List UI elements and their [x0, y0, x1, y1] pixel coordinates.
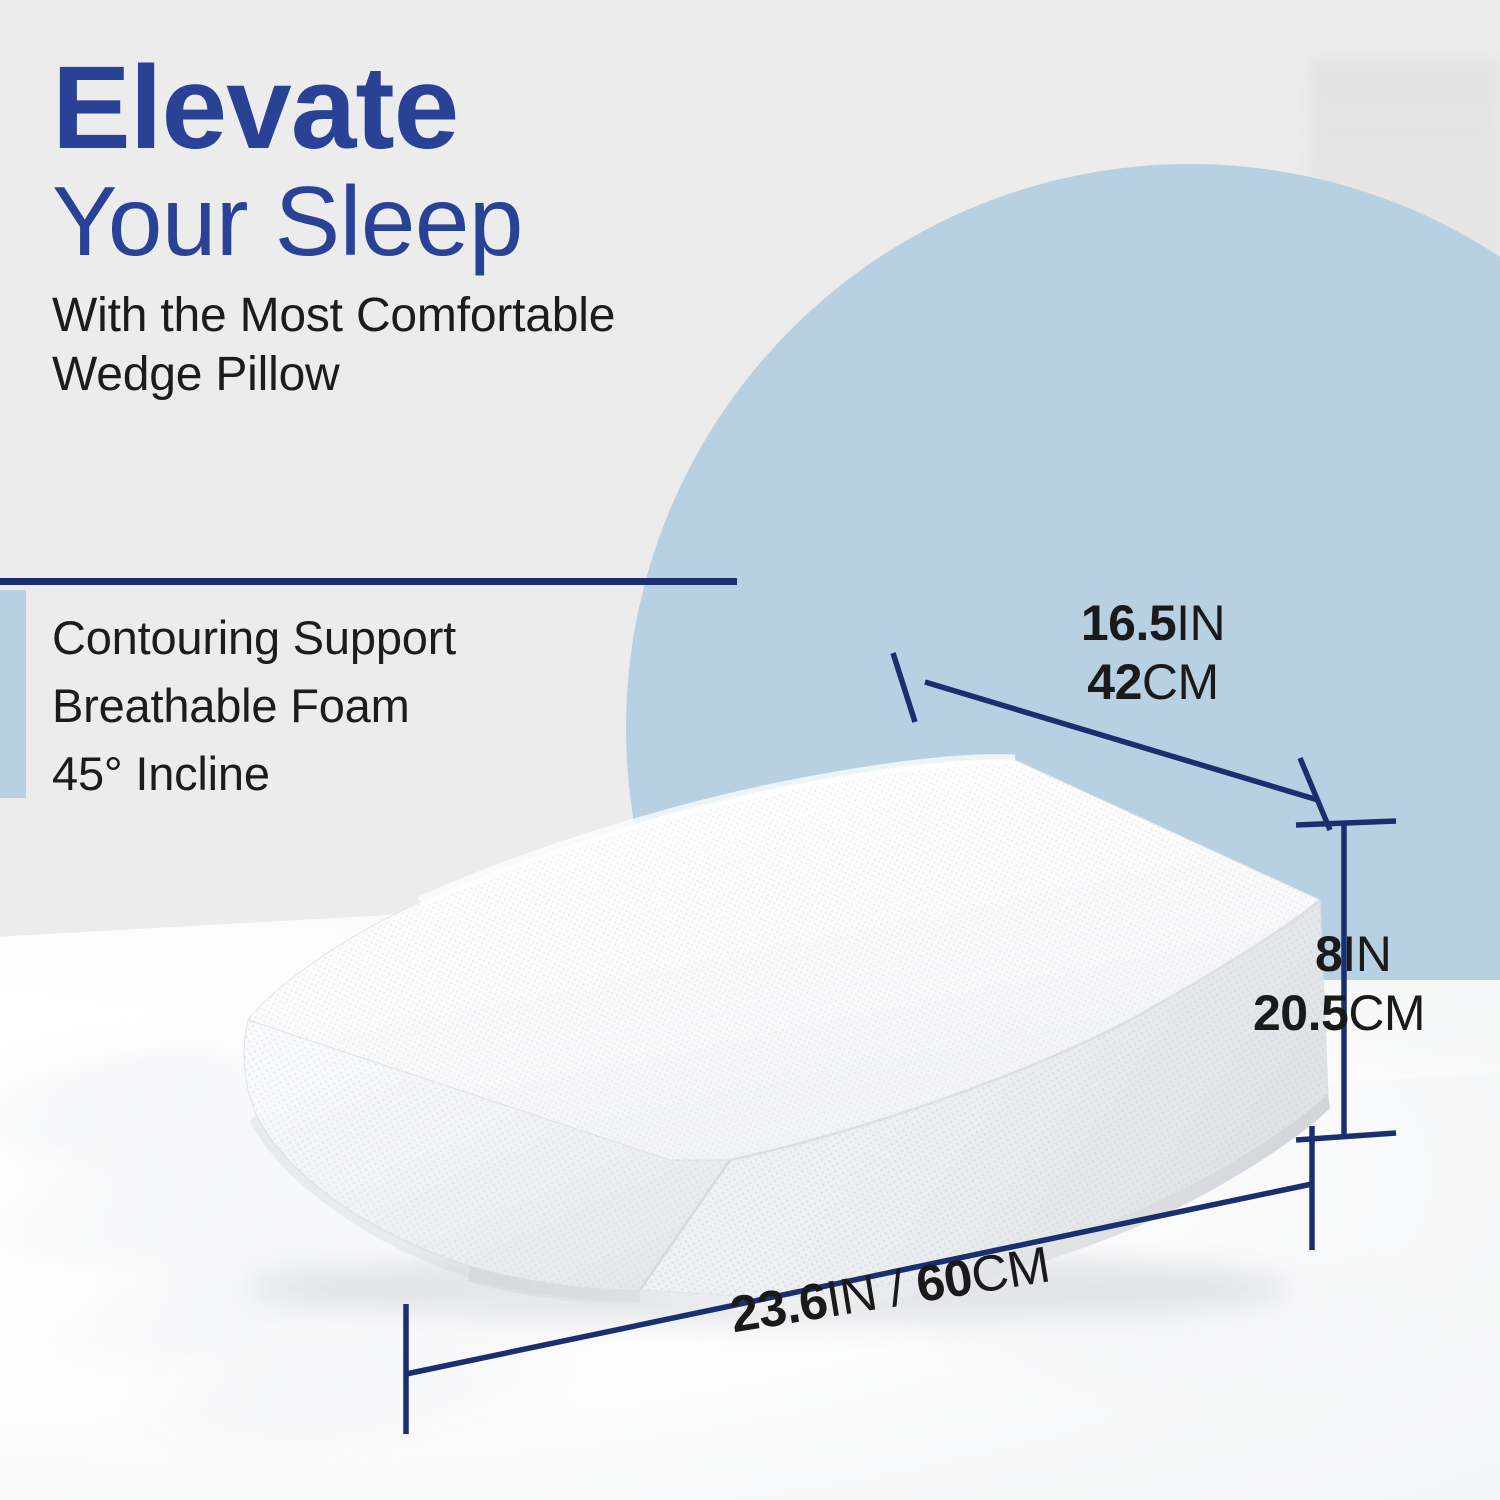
feature-item-1: Breathable Foam [52, 672, 712, 740]
feature-item-0: Contouring Support [52, 604, 712, 672]
section-divider-rule [0, 578, 737, 585]
product-infographic: Elevate Your Sleep With the Most Comfort… [0, 0, 1500, 1500]
feature-list: Contouring Support Breathable Foam 45° I… [52, 604, 712, 808]
headline-subtitle-line2: Wedge Pillow [52, 346, 772, 405]
headline-subtitle-line1: With the Most Comfortable [52, 287, 772, 346]
accent-bar-left [0, 590, 26, 798]
headline-secondary: Your Sleep [52, 171, 772, 273]
headline-primary: Elevate [52, 52, 772, 165]
headline-block: Elevate Your Sleep With the Most Comfort… [52, 52, 772, 404]
feature-item-2: 45° Incline [52, 740, 712, 808]
